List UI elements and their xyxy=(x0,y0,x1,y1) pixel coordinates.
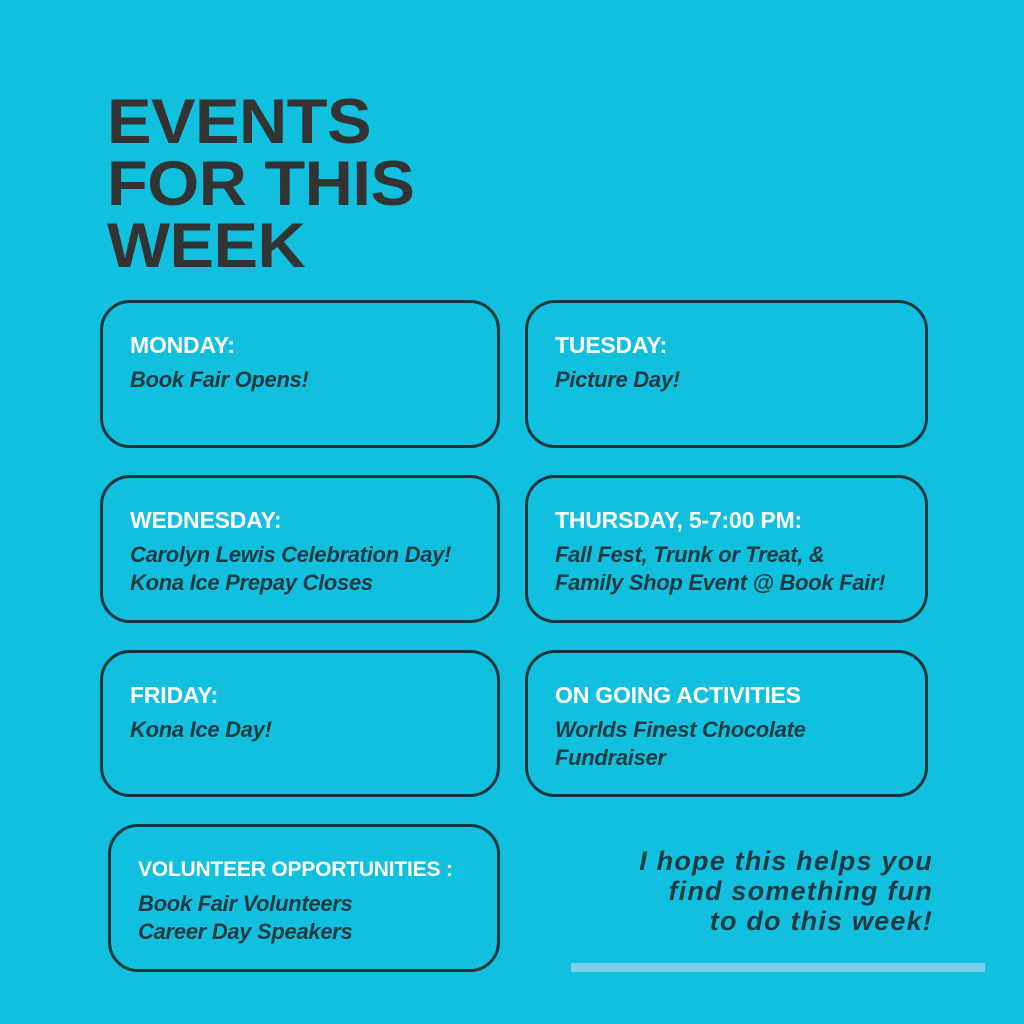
card-heading: TUESDAY: xyxy=(555,332,909,359)
event-card-ongoing-activities: ON GOING ACTIVITIES Worlds Finest Chocol… xyxy=(525,650,928,797)
event-card-volunteer-opportunities: VOLUNTEER OPPORTUNITIES : Book Fair Volu… xyxy=(108,824,500,972)
card-body: Worlds Finest Chocolate Fundraiser xyxy=(555,716,909,772)
card-content: TUESDAY: Picture Day! xyxy=(555,332,909,394)
event-card-tuesday: TUESDAY: Picture Day! xyxy=(525,300,928,448)
card-content: VOLUNTEER OPPORTUNITIES : Book Fair Volu… xyxy=(138,856,481,946)
event-card-thursday: THURSDAY, 5-7:00 PM: Fall Fest, Trunk or… xyxy=(525,475,928,623)
card-body: Book Fair Volunteers Career Day Speakers xyxy=(138,890,481,946)
card-body: Picture Day! xyxy=(555,366,909,394)
poster-canvas: Events For This Week MONDAY: Book Fair O… xyxy=(0,0,1024,1024)
card-body: Fall Fest, Trunk or Treat, & Family Shop… xyxy=(555,541,909,597)
event-card-wednesday: WEDNESDAY: Carolyn Lewis Celebration Day… xyxy=(100,475,500,623)
card-heading: FRIDAY: xyxy=(130,682,481,709)
card-content: WEDNESDAY: Carolyn Lewis Celebration Day… xyxy=(130,507,481,597)
card-content: THURSDAY, 5-7:00 PM: Fall Fest, Trunk or… xyxy=(555,507,909,597)
page-title: Events For This Week xyxy=(107,91,764,277)
accent-bar xyxy=(571,963,985,972)
card-content: MONDAY: Book Fair Opens! xyxy=(130,332,481,394)
card-heading: WEDNESDAY: xyxy=(130,507,481,534)
card-heading: THURSDAY, 5-7:00 PM: xyxy=(555,507,909,534)
card-content: FRIDAY: Kona Ice Day! xyxy=(130,682,481,744)
card-heading: VOLUNTEER OPPORTUNITIES : xyxy=(138,856,481,883)
event-card-friday: FRIDAY: Kona Ice Day! xyxy=(100,650,500,797)
card-body: Kona Ice Day! xyxy=(130,716,481,744)
card-body: Book Fair Opens! xyxy=(130,366,481,394)
closing-message: I hope this helps you find something fun… xyxy=(540,846,933,936)
card-content: ON GOING ACTIVITIES Worlds Finest Chocol… xyxy=(555,682,909,772)
card-body: Carolyn Lewis Celebration Day! Kona Ice … xyxy=(130,541,481,597)
event-card-monday: MONDAY: Book Fair Opens! xyxy=(100,300,500,448)
card-heading: MONDAY: xyxy=(130,332,481,359)
card-heading: ON GOING ACTIVITIES xyxy=(555,682,909,709)
